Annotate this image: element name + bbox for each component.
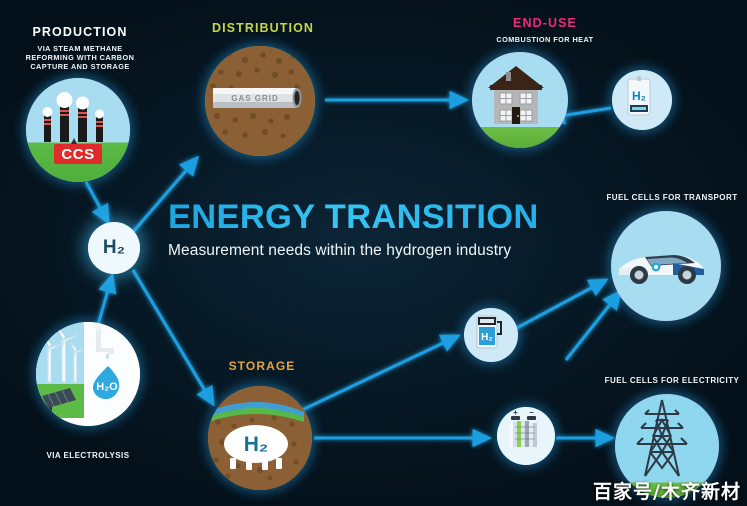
boiler-h2-text: H₂: [632, 89, 646, 103]
distribution-circle[interactable]: GAS GRID: [205, 46, 315, 156]
enduse-icon: [472, 52, 568, 148]
storage-h2-text: H₂: [244, 433, 269, 456]
storage-circle[interactable]: H₂: [208, 386, 312, 490]
underground-tank-icon: H₂: [208, 386, 304, 482]
transport-label: FUEL CELLS FOR TRANSPORT: [598, 193, 746, 203]
minus-terminal: −: [529, 408, 534, 417]
production-icon: [26, 78, 130, 182]
wind-solar-water-icon: H₂O: [36, 322, 132, 418]
electrolysis-label: VIA ELECTROLYSIS: [13, 451, 163, 461]
electrolysis-circle[interactable]: H₂O: [36, 322, 140, 426]
watermark: 百家号/木齐新材: [593, 477, 741, 504]
h2o-text: H₂O: [96, 381, 118, 393]
fuelcell-stack-node[interactable]: + −: [497, 407, 555, 465]
arrow-production-to-hub: [86, 182, 108, 222]
hub-h2-label: H₂: [103, 237, 125, 259]
electrolysis-caption: VIA ELECTROLYSIS: [13, 448, 163, 461]
arrow-dispenser-to-transport: [513, 280, 606, 330]
boiler-icon: H₂: [612, 70, 672, 130]
electrolysis-icon: H₂O: [36, 322, 140, 426]
hub-inner: H₂: [88, 222, 140, 274]
storage-label: STORAGE: [197, 359, 327, 374]
distribution-label: DISTRIBUTION: [193, 21, 333, 37]
enduse-circle[interactable]: [472, 52, 568, 148]
dispenser-node[interactable]: H₂: [464, 308, 518, 362]
enduse-sublabel: COMBUSTION FOR HEAT: [455, 35, 635, 44]
storage-icon: H₂: [208, 386, 312, 490]
boiler-node[interactable]: H₂: [612, 70, 672, 130]
infographic-canvas: PRODUCTION VIA STEAM METHANE REFORMING W…: [0, 0, 747, 506]
house-icon: [472, 52, 560, 140]
production-circle[interactable]: CCS: [26, 78, 130, 182]
distribution-caption: DISTRIBUTION: [193, 21, 333, 37]
storage-caption: STORAGE: [197, 359, 327, 374]
page-subtitle: Measurement needs within the hydrogen in…: [168, 242, 588, 260]
fuel-cell-stack-icon: + −: [497, 407, 549, 459]
arrow-transport-diagonal: [566, 292, 620, 360]
fuelcell-stack-icon: + −: [497, 407, 555, 465]
electricity-caption: FUEL CELLS FOR ELECTRICITY: [598, 373, 746, 386]
dispenser-h2-text: H₂: [481, 332, 493, 343]
transport-caption: FUEL CELLS FOR TRANSPORT: [598, 190, 746, 203]
ccs-badge: CCS: [54, 144, 102, 164]
transport-circle[interactable]: [611, 211, 721, 321]
arrow-hub-to-storage: [133, 270, 213, 404]
production-caption: PRODUCTION VIA STEAM METHANE REFORMING W…: [0, 25, 160, 71]
hydrogen-hub-node[interactable]: H₂: [88, 222, 140, 274]
plus-terminal: +: [513, 408, 518, 417]
enduse-label: END-USE: [455, 16, 635, 32]
production-label: PRODUCTION: [0, 25, 160, 41]
gas-pipeline-icon: GAS GRID: [205, 46, 307, 148]
hydrogen-dispenser-icon: H₂: [464, 308, 512, 356]
production-sublabel: VIA STEAM METHANE REFORMING WITH CARBON …: [0, 44, 160, 71]
transport-icon: [611, 211, 721, 321]
dispenser-icon: H₂: [464, 308, 518, 362]
enduse-caption: END-USE COMBUSTION FOR HEAT: [455, 16, 635, 44]
hydrogen-boiler-icon: H₂: [612, 70, 666, 124]
distribution-icon: GAS GRID: [205, 46, 315, 156]
electricity-label: FUEL CELLS FOR ELECTRICITY: [598, 376, 746, 386]
gas-grid-text: GAS GRID: [231, 94, 279, 103]
page-title: ENERGY TRANSITION: [168, 200, 588, 235]
title-block: ENERGY TRANSITION Measurement needs with…: [168, 200, 588, 260]
